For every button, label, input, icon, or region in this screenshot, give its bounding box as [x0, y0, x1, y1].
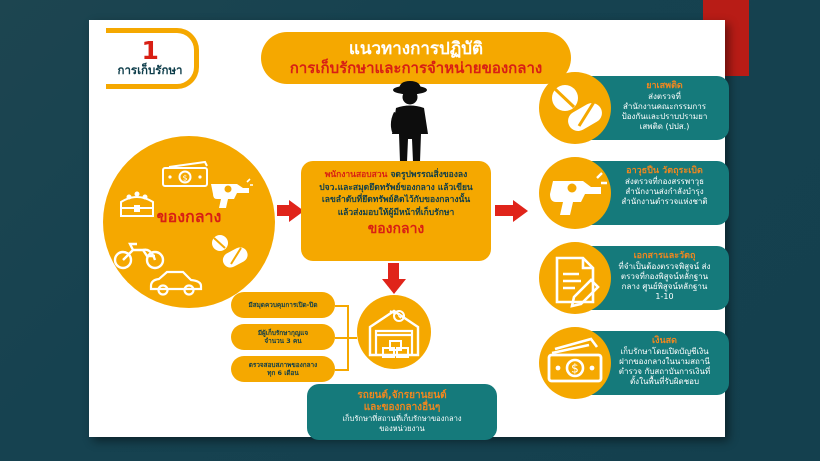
right-item-drugs-body-4: เสพติด (ปปส.) — [607, 122, 722, 132]
title-line-2: การเก็บรักษาและการจำหน่ายของกลาง — [290, 59, 542, 77]
arrow-shaft-right — [495, 205, 513, 216]
svg-text:$: $ — [571, 362, 579, 376]
connector-keyholders — [335, 337, 357, 339]
police-officer-icon — [374, 80, 446, 162]
arrow-to-right-items — [513, 200, 528, 222]
right-item-cash-body-1: เก็บรักษาโดยเปิดบัญชีเงิน — [607, 347, 722, 357]
page-title: แนวทางการปฏิบัติ การเก็บรักษาและการจำหน่… — [261, 32, 571, 84]
step-badge: 1 การเก็บรักษา — [106, 28, 199, 89]
right-item-cash-body-4: ตั้งในพื้นที่รับผิดชอบ — [607, 377, 722, 387]
right-item-documents[interactable]: เอกสารและวัตถุ ที่จำเป็นต้องตรวจพิสูจน์ … — [539, 242, 729, 314]
arrow-shaft-down — [388, 263, 399, 279]
right-item-weapons-body-2: สำนักงานส่งกำลังบำรุง — [607, 187, 722, 197]
evidence-circle-label: ของกลาง — [103, 205, 275, 230]
right-item-drugs-body-2: สำนักงานคณะกรรมการ — [607, 102, 722, 112]
sub-box-inspection-line-2: ทุก 6 เดือน — [267, 369, 299, 377]
banknotes-icon: $ — [539, 327, 611, 399]
infographic-card: 1 การเก็บรักษา แนวทางการปฏิบัติ การเก็บร… — [89, 20, 725, 437]
right-item-documents-head: เอกสารและวัตถุ — [607, 251, 722, 262]
center-line-2: ปจว.และสมุดยึดทรัพย์ของกลาง แล้วเขียน — [307, 182, 485, 195]
car-icon — [147, 268, 207, 296]
sub-box-inspection-line-1: ตรวจสอบสภาพของกลาง — [249, 361, 317, 369]
step-label: การเก็บรักษา — [118, 63, 183, 77]
center-line-4: แล้วส่งมอบให้ผู้มีหน้าที่เก็บรักษา — [307, 207, 485, 220]
center-line-1-rest: จดรูปพรรณสิ่งของลง — [390, 170, 467, 180]
banknotes-icon: $ — [161, 160, 213, 188]
warehouse-icon — [366, 305, 422, 359]
right-item-weapons-head: อาวุธปืน วัตถุระเบิด — [607, 166, 722, 177]
sub-box-logbook: มีสมุดควบคุมการเปิด-ปิด — [231, 292, 335, 318]
right-item-cash-body-2: ฝากของกลางในนามสถานี — [607, 357, 722, 367]
pills-icon — [207, 232, 251, 272]
right-item-documents-body-2: ตรวจที่กองพิสูจน์หลักฐาน — [607, 272, 722, 282]
right-item-weapons-body-3: สำนักงานตำรวจแห่งชาติ — [607, 197, 722, 207]
bottom-body-2: ของหน่วยงาน — [315, 424, 489, 434]
right-item-drugs[interactable]: ยาเสพติด ส่งตรวจที่ สำนักงานคณะกรรมการ ป… — [539, 72, 729, 144]
pills-icon — [539, 72, 611, 144]
center-emphasis: ของกลาง — [307, 220, 485, 238]
sub-box-logbook-line-1: มีสมุดควบคุมการเปิด-ปิด — [248, 301, 317, 309]
center-line-1: พนักงานสอบสวน จดรูปพรรณสิ่งของลง — [307, 169, 485, 182]
right-item-cash-body-3: ตำรวจ กับสถาบันการเงินที่ — [607, 367, 722, 377]
step-number: 1 — [142, 40, 159, 62]
right-item-cash-head: เงินสด — [607, 336, 722, 347]
right-item-documents-body-4: 1-10 — [607, 292, 722, 302]
title-line-1: แนวทางการปฏิบัติ — [349, 40, 483, 59]
svg-text:$: $ — [182, 174, 187, 183]
bottom-body-1: เก็บรักษาที่สถานที่เก็บรักษาของกลาง — [315, 414, 489, 424]
right-item-drugs-head: ยาเสพติด — [607, 81, 722, 92]
arrow-to-warehouse — [382, 279, 406, 294]
arrow-shaft-left — [277, 205, 289, 216]
right-item-documents-body-3: กลาง ศูนย์พิสูจน์หลักฐาน — [607, 282, 722, 292]
right-item-documents-body-1: ที่จำเป็นต้องตรวจพิสูจน์ ส่ง — [607, 262, 722, 272]
right-item-drugs-body-1: ส่งตรวจที่ — [607, 92, 722, 102]
sub-box-keyholders: มีผู้เก็บรักษากุญแจ จำนวน 3 คน — [231, 324, 335, 350]
bottom-summary-box: รถยนต์,จักรยานยนต์ และของกลางอื่นๆ เก็บร… — [307, 384, 497, 440]
document-pen-icon — [539, 242, 611, 314]
bottom-head-1: รถยนต์,จักรยานยนต์ — [315, 390, 489, 402]
right-item-weapons[interactable]: อาวุธปืน วัตถุระเบิด ส่งตรวจที่กองสรรพาว… — [539, 157, 729, 229]
center-line-3: เลขลำดับที่ยึดทรัพย์ติดไว้กับของกลางนั้น — [307, 194, 485, 207]
sub-box-keyholders-line-2: จำนวน 3 คน — [264, 337, 301, 345]
bottom-head-2: และของกลางอื่นๆ — [315, 402, 489, 414]
right-item-cash[interactable]: เงินสด เก็บรักษาโดยเปิดบัญชีเงิน ฝากของก… — [539, 327, 729, 399]
center-instruction-box: พนักงานสอบสวน จดรูปพรรณสิ่งของลง ปจว.และ… — [301, 161, 491, 261]
right-item-drugs-body-3: ป้องกันและปราบปรามยา — [607, 112, 722, 122]
sub-box-inspection: ตรวจสอบสภาพของกลาง ทุก 6 เดือน — [231, 356, 335, 382]
revolver-icon — [539, 157, 611, 229]
sub-box-keyholders-line-1: มีผู้เก็บรักษากุญแจ — [258, 329, 308, 337]
connector-vertical — [347, 305, 349, 371]
right-item-weapons-body-1: ส่งตรวจที่กองสรรพาวุธ — [607, 177, 722, 187]
center-highlight: พนักงานสอบสวน — [325, 170, 388, 180]
motorcycle-icon — [113, 238, 167, 270]
